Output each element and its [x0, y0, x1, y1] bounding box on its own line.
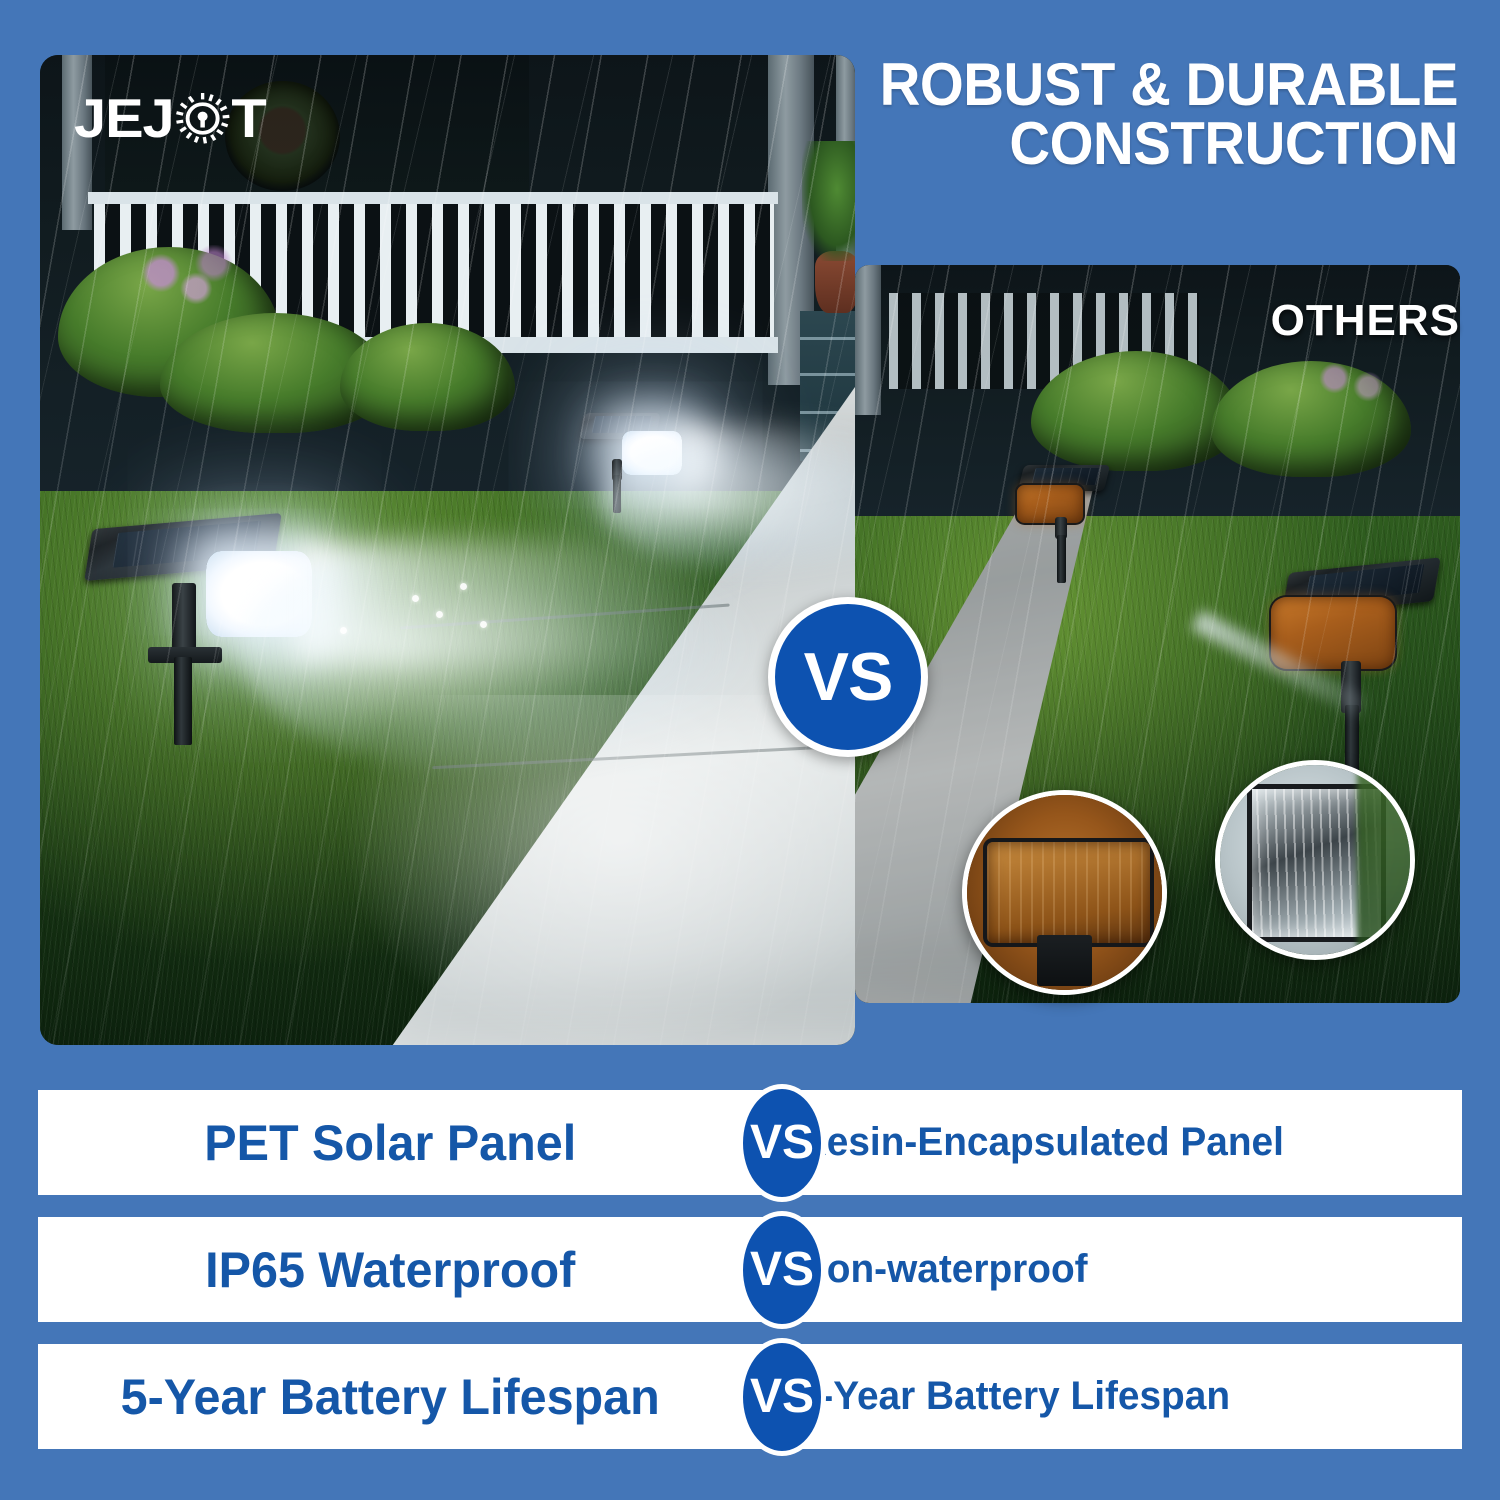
- lawn-flower: [460, 583, 467, 590]
- row-theirs-label: Resin-Encapsulated Panel: [758, 1120, 1441, 1165]
- rusty-lens-image: [967, 795, 1162, 990]
- lawn-flower: [412, 595, 419, 602]
- row-vs-badge: VS: [738, 1211, 826, 1329]
- page-headline: ROBUST & DURABLE CONSTRUCTION: [875, 56, 1458, 174]
- step-edge: [800, 337, 855, 340]
- rusty-lens-inset: [962, 790, 1167, 995]
- row-vs-badge: VS: [738, 1084, 826, 1202]
- row-ours-label: PET Solar Panel: [49, 1114, 747, 1172]
- logo-text-j: J: [143, 86, 174, 150]
- jejot-product-photo: [40, 55, 855, 1045]
- led-head-far: [622, 431, 682, 475]
- lawn-flower: [480, 621, 487, 628]
- flower-cluster: [128, 245, 238, 315]
- main-vs-badge: VS: [768, 597, 928, 757]
- frosted-panel-inset: [1215, 760, 1415, 960]
- stem-near: [172, 583, 196, 657]
- others-led-head-far: [1015, 483, 1085, 525]
- spotlight-far: [560, 413, 690, 513]
- logo-text-je: JE: [74, 86, 143, 150]
- comparison-table: PET Solar Panel VS Resin-Encapsulated Pa…: [38, 1090, 1462, 1449]
- comparison-row: IP65 Waterproof VS Non-waterproof: [38, 1217, 1462, 1322]
- lawn-flower: [436, 611, 443, 618]
- flower-cluster-right: [1301, 353, 1397, 409]
- headline-line-1: ROBUST & DURABLE: [880, 51, 1458, 118]
- others-led-head-near: [1269, 595, 1397, 671]
- frosted-panel-image: [1220, 765, 1410, 955]
- others-label: OTHERS: [1271, 296, 1460, 346]
- comparison-row: PET Solar Panel VS Resin-Encapsulated Pa…: [38, 1090, 1462, 1195]
- porch-railing-top: [88, 192, 778, 204]
- comparison-row: 5-Year Battery Lifespan VS 1-Year Batter…: [38, 1344, 1462, 1449]
- logo-text-t: T: [231, 86, 265, 150]
- others-stake-far: [1057, 535, 1066, 583]
- stake-far: [613, 475, 621, 513]
- led-head-near: [206, 551, 312, 637]
- step-edge: [800, 373, 855, 376]
- lawn-flower: [340, 627, 347, 634]
- row-vs-badge: VS: [738, 1338, 826, 1456]
- left-scene: [40, 55, 855, 1045]
- stake-near: [174, 657, 192, 745]
- porch-plant: [802, 141, 855, 261]
- others-spotlight-near: [1263, 565, 1460, 775]
- headline-line-2: CONSTRUCTION: [875, 115, 1458, 174]
- row-ours-label: IP65 Waterproof: [49, 1241, 747, 1299]
- others-spotlight-far: [1015, 465, 1145, 575]
- porch-pillar-right-scene: [855, 265, 881, 415]
- spotlight-near: [90, 515, 350, 745]
- sun-burst-icon: [175, 92, 231, 145]
- row-theirs-label: 1-Year Battery Lifespan: [758, 1374, 1441, 1419]
- brand-logo: JE J: [74, 86, 266, 150]
- row-ours-label: 5-Year Battery Lifespan: [49, 1368, 747, 1426]
- row-theirs-label: Non-waterproof: [758, 1247, 1441, 1292]
